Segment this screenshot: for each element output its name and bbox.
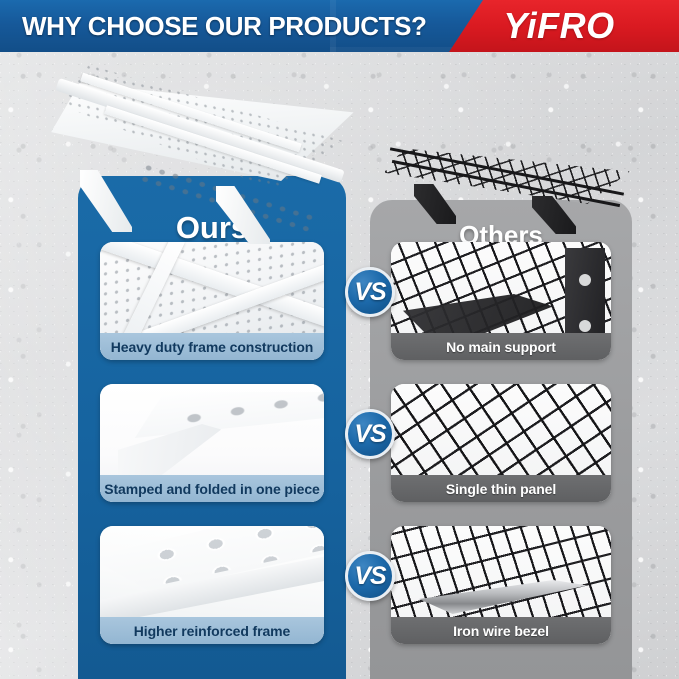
ours-caption-3: Higher reinforced frame: [100, 617, 324, 644]
mount-hole: [579, 274, 591, 286]
others-card-2[interactable]: Single thin panel: [391, 384, 611, 502]
rack-bracket: [80, 170, 132, 232]
vs-label: VS: [354, 420, 385, 449]
ours-caption-1: Heavy duty frame construction: [100, 333, 324, 360]
others-caption-2: Single thin panel: [391, 475, 611, 502]
others-hero-image: [384, 146, 632, 228]
ours-hero-image: [48, 78, 363, 228]
ours-card-1[interactable]: Heavy duty frame construction: [100, 242, 324, 360]
others-caption-3: Iron wire bezel: [391, 617, 611, 644]
vs-badge-2: VS: [345, 409, 395, 459]
ours-panel: Ours Heavy duty frame construction Stamp…: [78, 176, 346, 679]
vs-label: VS: [354, 278, 385, 307]
others-panel: Others No main support Single thin panel…: [370, 200, 632, 679]
page-title: WHY CHOOSE OUR PRODUCTS?: [22, 0, 427, 52]
others-caption-1: No main support: [391, 333, 611, 360]
wire-rack-bracket: [414, 184, 456, 224]
brand-logo: YiFRO: [449, 0, 669, 52]
ours-card-3[interactable]: Higher reinforced frame: [100, 526, 324, 644]
vs-badge-1: VS: [345, 267, 395, 317]
ours-card-2[interactable]: Stamped and folded in one piece: [100, 384, 324, 502]
ours-caption-2: Stamped and folded in one piece: [100, 475, 324, 502]
vs-label: VS: [354, 562, 385, 591]
others-card-3[interactable]: Iron wire bezel: [391, 526, 611, 644]
mount-hole: [579, 320, 591, 332]
header-bar: WHY CHOOSE OUR PRODUCTS? YiFRO: [0, 0, 679, 52]
others-card-1[interactable]: No main support: [391, 242, 611, 360]
vs-badge-3: VS: [345, 551, 395, 601]
